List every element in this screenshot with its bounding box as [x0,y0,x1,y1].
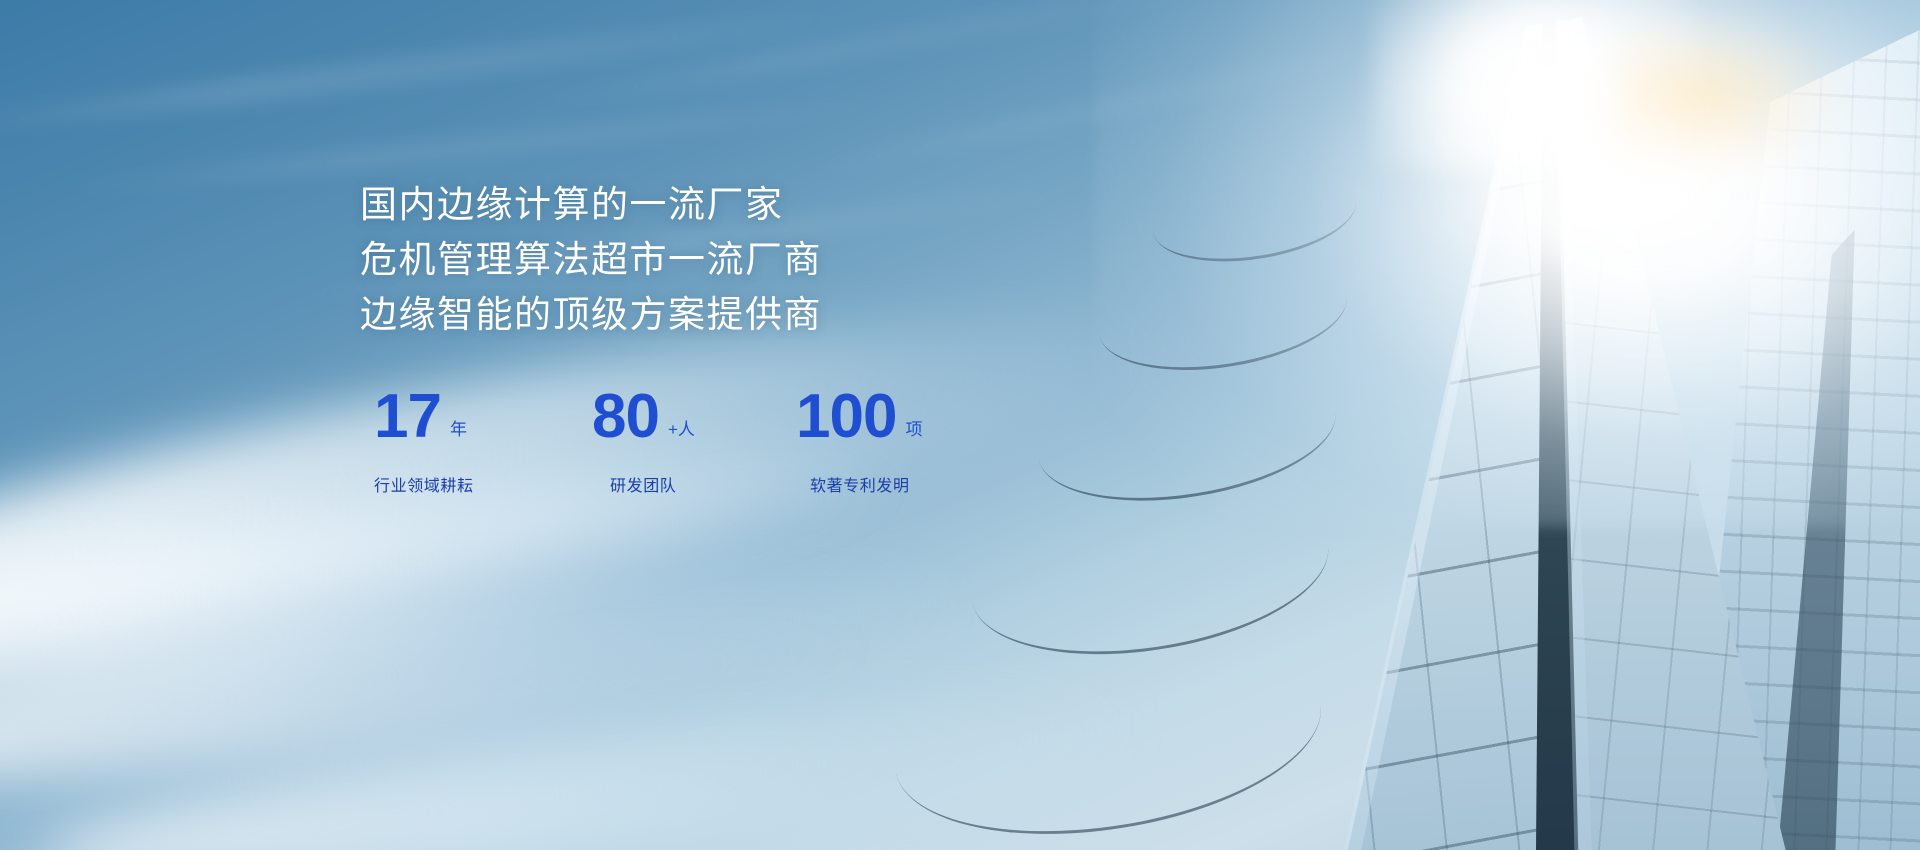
stat-value-group: 17 年 [364,386,576,448]
headline-line-3: 边缘智能的顶级方案提供商 [360,288,1060,343]
facade-curve-band [803,753,1329,850]
stats-row: 17 年 行业领域耕耘 80 +人 研发团队 100 项 软著专利发明 [360,386,1060,496]
headline-line-2: 危机管理算法超市一流厂商 [360,233,1060,288]
stat-number: 80 [592,386,659,448]
hero-banner: 国内边缘计算的一流厂家 危机管理算法超市一流厂商 边缘智能的顶级方案提供商 17… [0,0,1920,850]
headline-line-1: 国内边缘计算的一流厂家 [360,178,1060,233]
headline-block: 国内边缘计算的一流厂家 危机管理算法超市一流厂商 边缘智能的顶级方案提供商 [360,178,1060,342]
stat-label: 研发团队 [576,472,788,496]
stat-label: 行业领域耕耘 [364,472,576,496]
stat-item-team: 80 +人 研发团队 [576,386,788,496]
stat-item-patents: 100 项 软著专利发明 [788,386,1000,496]
stat-unit: 年 [450,415,467,440]
stat-value-group: 100 项 [788,386,1000,448]
stat-number: 100 [796,386,896,448]
stat-value-group: 80 +人 [576,386,788,448]
stat-label: 软著专利发明 [788,472,1000,496]
stat-item-years: 17 年 行业领域耕耘 [364,386,576,496]
stat-unit: 项 [905,415,922,440]
stat-number: 17 [374,386,441,448]
stat-unit: +人 [668,415,695,440]
warm-sunlight-highlight [1613,17,1843,170]
banner-content: 国内边缘计算的一流厂家 危机管理算法超市一流厂商 边缘智能的顶级方案提供商 17… [360,178,1060,496]
facade-curve-band [881,613,1334,850]
